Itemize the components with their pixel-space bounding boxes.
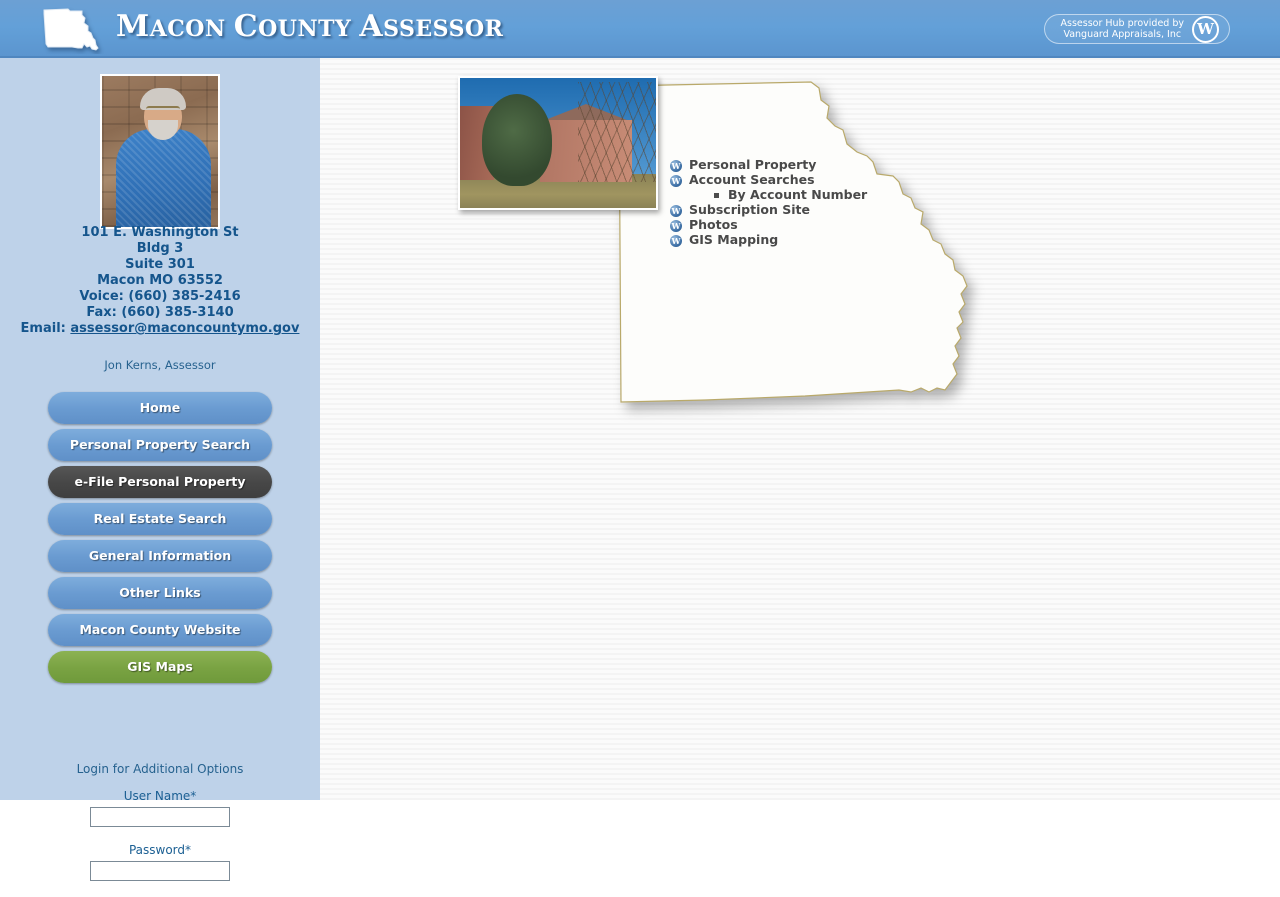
link-photos[interactable]: Photos	[689, 218, 738, 232]
address-line-3: Suite 301	[0, 257, 320, 273]
office-voice-phone: Voice: (660) 385-2416	[0, 289, 320, 305]
missouri-state-outline-icon	[38, 4, 114, 54]
link-personal-property[interactable]: Personal Property	[689, 158, 816, 172]
sidebar-item-efile-personal-property[interactable]: e-File Personal Property	[48, 466, 272, 498]
vanguard-logo-bullet-icon: W	[670, 160, 682, 172]
hub-badge-text: Assessor Hub provided by Vanguard Apprai…	[1061, 18, 1184, 40]
assessor-hub-badge[interactable]: Assessor Hub provided by Vanguard Apprai…	[1044, 14, 1230, 44]
sidebar-item-general-information[interactable]: General Information	[48, 540, 272, 572]
assessor-portrait-photo	[100, 74, 220, 229]
title-acon: ACON	[150, 16, 234, 42]
password-label: Password*	[0, 843, 320, 857]
office-email-row: Email: assessor@maconcountymo.gov	[0, 321, 320, 337]
portrait-glasses	[146, 106, 180, 114]
hub-badge-line1: Assessor Hub provided by	[1061, 18, 1184, 29]
list-item[interactable]: W GIS Mapping	[670, 233, 970, 247]
main-content: W Personal Property W Account Searches B…	[320, 58, 1280, 800]
page-title: MACON COUNTY ASSESSOR	[116, 9, 503, 44]
sidebar: 101 E. Washington St Bldg 3 Suite 301 Ma…	[0, 58, 320, 800]
missouri-state-outline-map	[615, 78, 995, 453]
link-subscription-site[interactable]: Subscription Site	[689, 203, 810, 217]
link-account-searches[interactable]: Account Searches	[689, 173, 815, 187]
title-letter-m: M	[116, 9, 150, 44]
username-label: User Name*	[0, 789, 320, 803]
vanguard-logo-icon: W	[1192, 16, 1219, 43]
portrait-torso	[116, 129, 211, 227]
title-letter-c: C	[234, 9, 258, 44]
office-address: 101 E. Washington St Bldg 3 Suite 301 Ma…	[0, 225, 320, 337]
sidebar-item-personal-property-search[interactable]: Personal Property Search	[48, 429, 272, 461]
link-gis-mapping[interactable]: GIS Mapping	[689, 233, 778, 247]
address-line-1: 101 E. Washington St	[0, 225, 320, 241]
sidebar-navigation: Home Personal Property Search e-File Per…	[48, 392, 272, 688]
macon-county-courthouse-photo	[458, 76, 658, 210]
title-ssessor: SSESSOR	[383, 16, 503, 42]
list-item[interactable]: W Personal Property	[670, 158, 970, 172]
title-letter-a: A	[359, 9, 383, 44]
hub-badge-line2: Vanguard Appraisals, Inc	[1061, 29, 1184, 40]
list-item[interactable]: W Photos	[670, 218, 970, 232]
list-item[interactable]: By Account Number	[714, 188, 970, 202]
sidebar-item-other-links[interactable]: Other Links	[48, 577, 272, 609]
sidebar-item-gis-maps[interactable]: GIS Maps	[48, 651, 272, 683]
sidebar-item-home[interactable]: Home	[48, 392, 272, 424]
username-input[interactable]	[90, 807, 230, 827]
sidebar-item-real-estate-search[interactable]: Real Estate Search	[48, 503, 272, 535]
photo-bare-tree	[578, 82, 658, 182]
list-item[interactable]: W Account Searches	[670, 173, 970, 187]
address-city-state-zip: Macon MO 63552	[0, 273, 320, 289]
photo-evergreen-tree	[482, 94, 552, 186]
email-link[interactable]: assessor@maconcountymo.gov	[70, 321, 299, 336]
vanguard-logo-bullet-icon: W	[670, 220, 682, 232]
login-form-title: Login for Additional Options	[0, 762, 320, 776]
list-item[interactable]: W Subscription Site	[670, 203, 970, 217]
title-ounty: OUNTY	[258, 16, 359, 42]
assessor-name-label: Jon Kerns, Assessor	[0, 358, 320, 372]
vanguard-logo-bullet-icon: W	[670, 205, 682, 217]
sidebar-item-macon-county-website[interactable]: Macon County Website	[48, 614, 272, 646]
office-fax-number: Fax: (660) 385-3140	[0, 305, 320, 321]
vanguard-logo-bullet-icon: W	[670, 175, 682, 187]
login-form: Login for Additional Options User Name* …	[0, 762, 320, 897]
square-bullet-icon	[714, 193, 719, 198]
email-prefix-label: Email:	[21, 321, 71, 336]
site-header: MACON COUNTY ASSESSOR Assessor Hub provi…	[0, 0, 1280, 58]
link-by-account-number[interactable]: By Account Number	[728, 188, 867, 202]
content-link-list: W Personal Property W Account Searches B…	[670, 158, 970, 248]
address-line-2: Bldg 3	[0, 241, 320, 257]
vanguard-logo-bullet-icon: W	[670, 235, 682, 247]
password-input[interactable]	[90, 861, 230, 881]
